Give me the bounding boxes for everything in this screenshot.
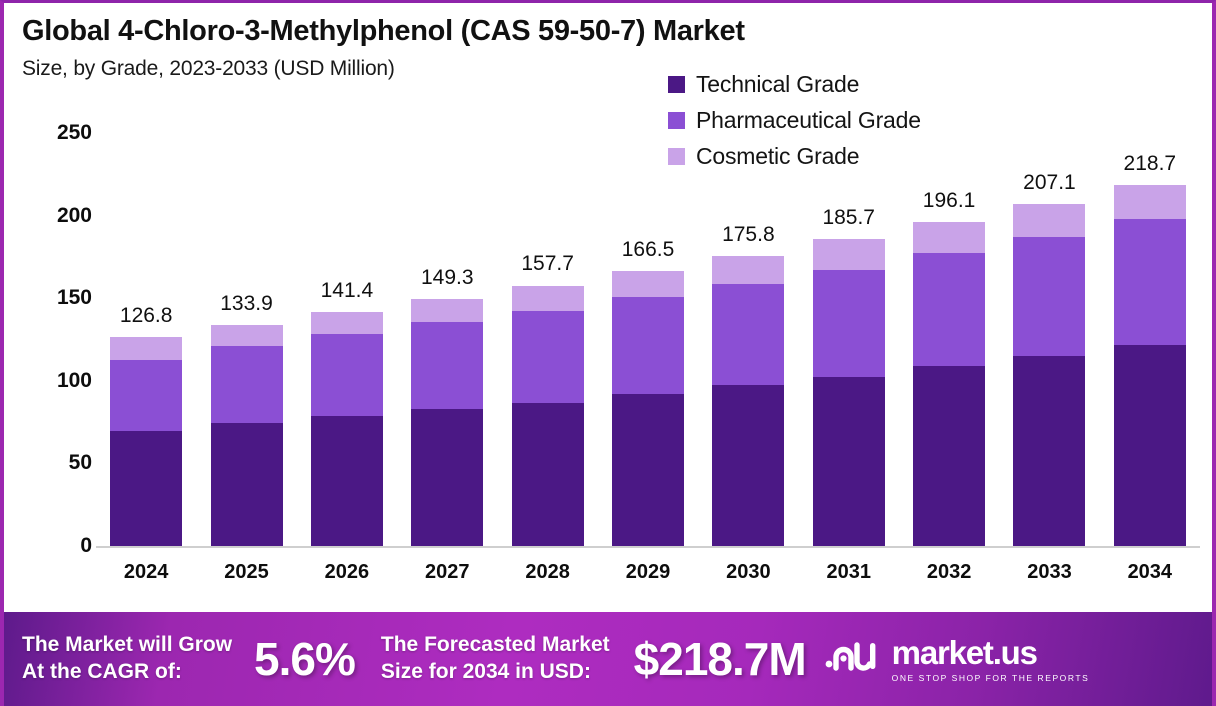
x-axis-tick: 2034: [1128, 561, 1173, 584]
x-axis-tick: 2031: [826, 561, 871, 584]
bar-value-label: 126.8: [120, 304, 173, 328]
bar-segment-cosmetic-grade[interactable]: [211, 325, 283, 347]
y-axis-tick: 50: [0, 451, 92, 475]
bar-segment-pharmaceutical-grade[interactable]: [110, 360, 182, 431]
bar-segment-pharmaceutical-grade[interactable]: [311, 334, 383, 416]
bar-group[interactable]: 185.72031: [813, 239, 885, 546]
bar-group[interactable]: 126.82024: [110, 337, 182, 546]
bar-stack: [411, 299, 483, 546]
bar-segment-cosmetic-grade[interactable]: [612, 271, 684, 297]
brand-block[interactable]: market.us ONE STOP SHOP FOR THE REPORTS: [824, 636, 1090, 683]
bar-segment-technical-grade[interactable]: [1013, 356, 1085, 546]
x-axis-tick: 2026: [325, 561, 370, 584]
bar-group[interactable]: 175.82030: [712, 256, 784, 546]
bar-segment-cosmetic-grade[interactable]: [110, 337, 182, 360]
bar-group[interactable]: 207.12033: [1013, 204, 1085, 546]
bar-value-label: 141.4: [321, 279, 374, 303]
bar-segment-technical-grade[interactable]: [411, 409, 483, 546]
bar-group[interactable]: 133.92025: [211, 325, 283, 546]
bar-segment-cosmetic-grade[interactable]: [813, 239, 885, 270]
x-axis-tick: 2030: [726, 561, 771, 584]
bar-stack: [913, 222, 985, 546]
bar-segment-cosmetic-grade[interactable]: [1013, 204, 1085, 237]
bar-stack: [612, 271, 684, 546]
bar-stack: [211, 325, 283, 546]
bar-group[interactable]: 218.72034: [1114, 185, 1186, 546]
chart-plot-area: 050100150200250 126.82024133.92025141.42…: [4, 3, 1216, 603]
bar-group[interactable]: 166.52029: [612, 271, 684, 546]
bar-segment-pharmaceutical-grade[interactable]: [712, 284, 784, 385]
bar-value-label: 133.9: [220, 292, 273, 316]
forecast-value: $218.7M: [634, 632, 806, 686]
y-axis-tick: 200: [0, 204, 92, 228]
bar-stack: [311, 312, 383, 546]
bar-group[interactable]: 196.12032: [913, 222, 985, 546]
bar-stack: [1114, 185, 1186, 546]
bar-segment-technical-grade[interactable]: [1114, 345, 1186, 546]
bar-value-label: 185.7: [822, 206, 875, 230]
bar-segment-pharmaceutical-grade[interactable]: [813, 270, 885, 377]
brand-tagline: ONE STOP SHOP FOR THE REPORTS: [892, 673, 1090, 683]
bar-segment-cosmetic-grade[interactable]: [1114, 185, 1186, 219]
bar-segment-technical-grade[interactable]: [913, 366, 985, 546]
y-axis-tick: 0: [0, 534, 92, 558]
market-us-logo-icon: [824, 637, 882, 682]
bar-segment-technical-grade[interactable]: [612, 394, 684, 546]
cagr-value: 5.6%: [254, 632, 355, 686]
bar-segment-cosmetic-grade[interactable]: [512, 286, 584, 311]
bar-segment-technical-grade[interactable]: [110, 431, 182, 546]
bar-segment-pharmaceutical-grade[interactable]: [1114, 219, 1186, 345]
bar-segment-pharmaceutical-grade[interactable]: [612, 297, 684, 394]
x-axis-tick: 2024: [124, 561, 169, 584]
x-axis-tick: 2029: [626, 561, 671, 584]
y-axis-tick: 100: [0, 369, 92, 393]
brand-name: market.us: [892, 634, 1037, 671]
footer-banner: The Market will Grow At the CAGR of: 5.6…: [0, 612, 1216, 706]
bar-segment-pharmaceutical-grade[interactable]: [211, 346, 283, 422]
bar-group[interactable]: 141.42026: [311, 312, 383, 546]
bar-segment-cosmetic-grade[interactable]: [913, 222, 985, 253]
bar-series-container: 126.82024133.92025141.42026149.32027157.…: [96, 3, 1200, 603]
forecast-caption: The Forecasted Market Size for 2034 in U…: [381, 632, 610, 686]
bar-segment-pharmaceutical-grade[interactable]: [512, 311, 584, 403]
bar-value-label: 157.7: [521, 252, 574, 276]
y-axis-tick: 150: [0, 286, 92, 310]
bar-stack: [110, 337, 182, 546]
bar-segment-cosmetic-grade[interactable]: [411, 299, 483, 322]
bar-segment-cosmetic-grade[interactable]: [712, 256, 784, 285]
bar-value-label: 166.5: [622, 238, 675, 262]
bar-segment-technical-grade[interactable]: [512, 403, 584, 546]
brand-text: market.us ONE STOP SHOP FOR THE REPORTS: [892, 636, 1090, 683]
bar-segment-technical-grade[interactable]: [712, 385, 784, 546]
bar-value-label: 218.7: [1124, 152, 1177, 176]
cagr-caption-line2: At the CAGR of:: [22, 659, 232, 686]
forecast-caption-line2: Size for 2034 in USD:: [381, 659, 610, 686]
x-axis-tick: 2033: [1027, 561, 1072, 584]
bar-value-label: 175.8: [722, 223, 775, 247]
bar-segment-technical-grade[interactable]: [311, 416, 383, 546]
bar-group[interactable]: 149.32027: [411, 299, 483, 546]
market-infographic: Global 4-Chloro-3-Methylphenol (CAS 59-5…: [0, 0, 1216, 706]
y-axis: 050100150200250: [4, 3, 92, 603]
bar-value-label: 196.1: [923, 189, 976, 213]
bar-value-label: 149.3: [421, 266, 474, 290]
bar-value-label: 207.1: [1023, 171, 1076, 195]
forecast-caption-line1: The Forecasted Market: [381, 632, 610, 659]
bar-stack: [1013, 204, 1085, 546]
y-axis-tick: 250: [0, 121, 92, 145]
x-axis-tick: 2028: [525, 561, 570, 584]
bar-segment-pharmaceutical-grade[interactable]: [1013, 237, 1085, 356]
bar-stack: [512, 286, 584, 547]
bar-segment-cosmetic-grade[interactable]: [311, 312, 383, 333]
x-axis-tick: 2025: [224, 561, 269, 584]
bar-group[interactable]: 157.72028: [512, 286, 584, 547]
bar-segment-technical-grade[interactable]: [813, 377, 885, 546]
bar-segment-technical-grade[interactable]: [211, 423, 283, 546]
bar-stack: [712, 256, 784, 546]
x-axis-tick: 2032: [927, 561, 972, 584]
cagr-caption-line1: The Market will Grow: [22, 632, 232, 659]
x-axis-tick: 2027: [425, 561, 470, 584]
bar-segment-pharmaceutical-grade[interactable]: [411, 322, 483, 409]
bar-segment-pharmaceutical-grade[interactable]: [913, 253, 985, 366]
cagr-caption: The Market will Grow At the CAGR of:: [22, 632, 232, 686]
bar-stack: [813, 239, 885, 546]
